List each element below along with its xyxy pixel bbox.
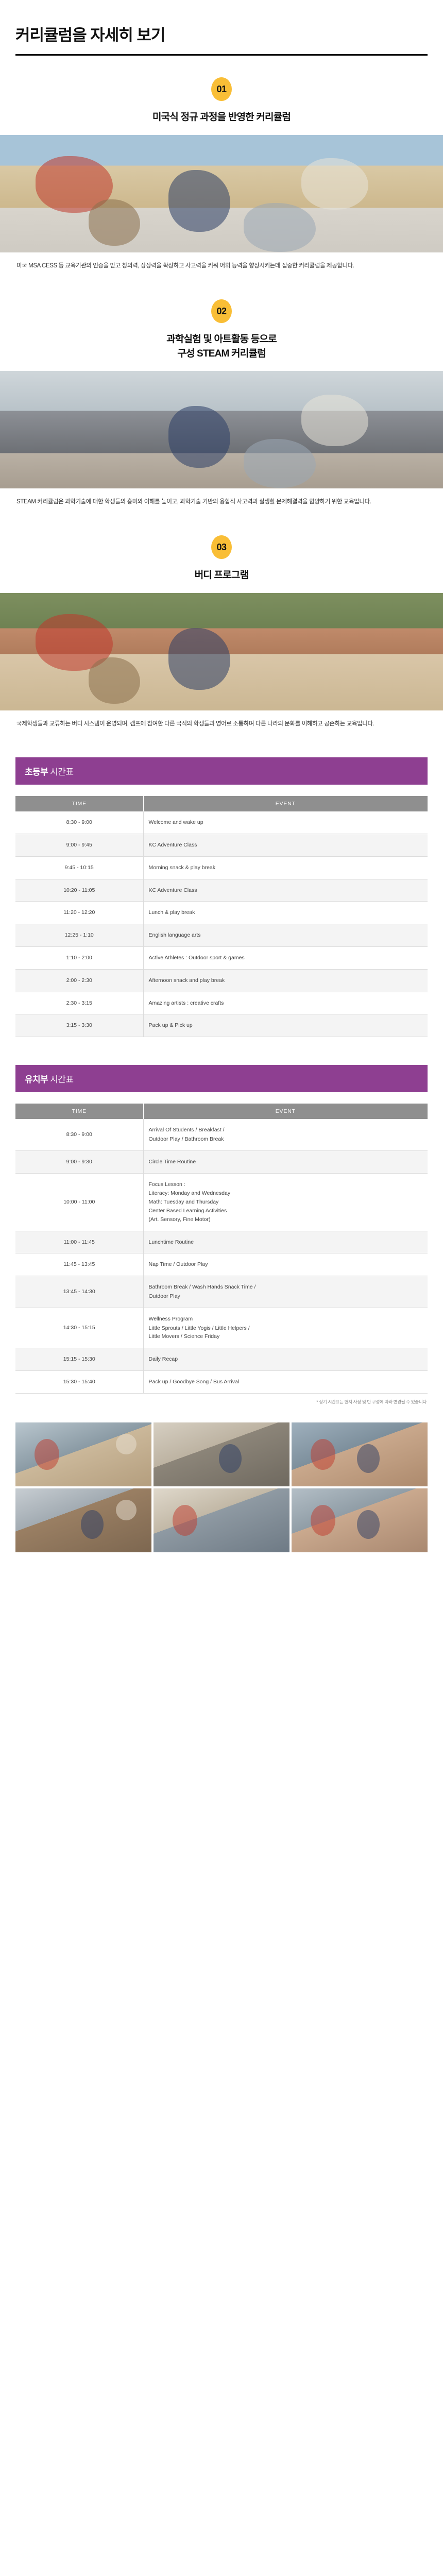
title-divider (15, 54, 428, 56)
science-lab-photo (0, 371, 443, 488)
event-line: English language arts (149, 931, 423, 940)
column-header-time: TIME (15, 796, 143, 811)
section-heading-01: 미국식 정규 과정을 반영한 커리큘럼 (15, 110, 428, 125)
cell-time: 8:30 - 9:00 (15, 1119, 143, 1150)
gallery-photo-6 (292, 1488, 428, 1552)
table-row: 8:30 - 9:00Welcome and wake up (15, 811, 428, 834)
section-heading-line: 미국식 정규 과정을 반영한 커리큘럼 (15, 110, 428, 125)
cell-event: Pack up & Pick up (143, 1014, 428, 1037)
table-row: 9:00 - 9:45KC Adventure Class (15, 834, 428, 856)
column-header-event: EVENT (143, 1104, 428, 1119)
cell-event: Afternoon snack and play break (143, 969, 428, 992)
cell-time: 12:25 - 1:10 (15, 924, 143, 947)
table-head: TIME EVENT (15, 796, 428, 811)
event-line: Little Movers / Science Friday (149, 1332, 423, 1341)
cell-time: 3:15 - 3:30 (15, 1014, 143, 1037)
cell-event: Circle Time Routine (143, 1150, 428, 1173)
cell-time: 14:30 - 15:15 (15, 1308, 143, 1348)
badge-wrap-02: 02 (15, 299, 428, 323)
table-row: 15:15 - 15:30Daily Recap (15, 1348, 428, 1371)
photo-shape (116, 1500, 137, 1520)
elementary-schedule-table: TIME EVENT 8:30 - 9:00Welcome and wake u… (15, 796, 428, 1037)
gallery-photo-5 (154, 1488, 289, 1552)
gallery-photo-3 (292, 1422, 428, 1486)
photo-gallery (0, 1405, 443, 1570)
section-heading-02: 과학실험 및 아트활동 등으로 구성 STEAM 커리큘럼 (15, 332, 428, 361)
table-header-row: TIME EVENT (15, 796, 428, 811)
event-line: Focus Lesson : (149, 1180, 423, 1189)
event-line: Outdoor Play (149, 1292, 423, 1301)
elementary-schedule: 초등부 시간표 TIME EVENT 8:30 - 9:00Welcome an… (0, 757, 443, 1065)
event-line: Center Based Learning Activities (149, 1207, 423, 1215)
cell-event: KC Adventure Class (143, 834, 428, 856)
banner-light-text: 시간표 (48, 767, 73, 777)
event-line: Little Sprouts / Little Yogis / Little H… (149, 1324, 423, 1333)
spacer (15, 730, 428, 757)
banner-strong-text: 초등부 (25, 767, 48, 777)
page-header: 커리큘럼을 자세히 보기 (0, 0, 443, 56)
section-heading-line: 과학실험 및 아트활동 등으로 (15, 332, 428, 347)
buddy-program-photo (0, 593, 443, 710)
elementary-schedule-banner: 초등부 시간표 (15, 757, 428, 785)
cell-time: 2:00 - 2:30 (15, 969, 143, 992)
badge-wrap-03: 03 (15, 535, 428, 559)
event-line: Pack up & Pick up (149, 1021, 423, 1030)
kindergarten-schedule-table: TIME EVENT 8:30 - 9:00Arrival Of Student… (15, 1104, 428, 1394)
column-header-time: TIME (15, 1104, 143, 1119)
photo-shape (173, 1505, 197, 1536)
photo-shape (81, 1510, 104, 1539)
cell-time: 2:30 - 3:15 (15, 992, 143, 1014)
event-line: (Art. Sensory, Fine Motor) (149, 1215, 423, 1224)
table-row: 1:10 - 2:00Active Athletes : Outdoor spo… (15, 946, 428, 969)
cell-event: Arrival Of Students / Breakfast /Outdoor… (143, 1119, 428, 1150)
table-row: 14:30 - 15:15Wellness ProgramLittle Spro… (15, 1308, 428, 1348)
cell-time: 8:30 - 9:00 (15, 811, 143, 834)
section-heading-line: 구성 STEAM 커리큘럼 (15, 347, 428, 361)
cell-event: Nap Time / Outdoor Play (143, 1253, 428, 1276)
spacer (15, 507, 428, 535)
cell-event: KC Adventure Class (143, 879, 428, 902)
table-row: 10:20 - 11:05KC Adventure Class (15, 879, 428, 902)
cell-event: Amazing artists : creative crafts (143, 992, 428, 1014)
cell-event: Welcome and wake up (143, 811, 428, 834)
badge-wrap-01: 01 (15, 77, 428, 101)
cell-event: Wellness ProgramLittle Sprouts / Little … (143, 1308, 428, 1348)
photo-shape (116, 1434, 137, 1454)
section-02-body: STEAM 커리큘럼은 과학기술에 대한 학생들의 흥미와 이해를 높이고, 과… (0, 488, 443, 535)
event-line: Literacy: Monday and Wednesday (149, 1189, 423, 1198)
section-number-badge-03: 03 (211, 535, 232, 559)
cell-event: Morning snack & play break (143, 856, 428, 879)
gallery-photo-1 (15, 1422, 151, 1486)
table-row: 10:00 - 11:00Focus Lesson :Literacy: Mon… (15, 1173, 428, 1231)
table-row: 9:00 - 9:30Circle Time Routine (15, 1150, 428, 1173)
event-line: Arrival Of Students / Breakfast / (149, 1126, 423, 1134)
event-line: Outdoor Play / Bathroom Break (149, 1135, 423, 1144)
section-number-badge-02: 02 (211, 299, 232, 323)
photo-shape (244, 203, 316, 252)
cell-time: 13:45 - 14:30 (15, 1276, 143, 1308)
cell-event: English language arts (143, 924, 428, 947)
event-line: Lunch & play break (149, 908, 423, 917)
event-line: Active Athletes : Outdoor sport & games (149, 954, 423, 962)
table-row: 13:45 - 14:30Bathroom Break / Wash Hands… (15, 1276, 428, 1308)
cell-time: 11:00 - 11:45 (15, 1231, 143, 1253)
photo-shape (89, 657, 140, 704)
spacer (15, 1037, 428, 1065)
table-row: 11:00 - 11:45Lunchtime Routine (15, 1231, 428, 1253)
event-line: Circle Time Routine (149, 1158, 423, 1166)
section-heading-03: 버디 프로그램 (15, 568, 428, 583)
event-line: Nap Time / Outdoor Play (149, 1260, 423, 1269)
photo-shape (311, 1505, 335, 1536)
table-row: 15:30 - 15:40Pack up / Goodbye Song / Bu… (15, 1370, 428, 1393)
cell-event: Focus Lesson :Literacy: Monday and Wedne… (143, 1173, 428, 1231)
section-description-03: 국제학생들과 교류하는 버디 시스템이 운영되며, 캠프에 참여한 다른 국적의… (15, 710, 428, 730)
photo-shape (168, 406, 230, 468)
cell-event: Bathroom Break / Wash Hands Snack Time /… (143, 1276, 428, 1308)
event-line: Math: Tuesday and Thursday (149, 1198, 423, 1207)
cell-time: 9:45 - 10:15 (15, 856, 143, 879)
cell-time: 1:10 - 2:00 (15, 946, 143, 969)
event-line: Wellness Program (149, 1315, 423, 1324)
event-line: Bathroom Break / Wash Hands Snack Time / (149, 1283, 423, 1292)
table-row: 11:45 - 13:45Nap Time / Outdoor Play (15, 1253, 428, 1276)
photo-shape (301, 395, 368, 446)
event-line: Pack up / Goodbye Song / Bus Arrival (149, 1378, 423, 1386)
kindergarten-schedule-banner: 유치부 시간표 (15, 1065, 428, 1092)
table-row: 2:00 - 2:30Afternoon snack and play brea… (15, 969, 428, 992)
photo-shape (301, 158, 368, 210)
cell-time: 10:20 - 11:05 (15, 879, 143, 902)
photo-shape (357, 1510, 380, 1539)
section-01-body: 미국 MSA CESS 등 교육기관의 인증을 받고 창의력, 상상력을 확장하… (0, 252, 443, 299)
banner-light-text: 시간표 (48, 1075, 73, 1084)
table-header-row: TIME EVENT (15, 1104, 428, 1119)
kindergarten-schedule: 유치부 시간표 TIME EVENT 8:30 - 9:00Arrival Of… (0, 1065, 443, 1405)
cell-time: 15:30 - 15:40 (15, 1370, 143, 1393)
table-row: 2:30 - 3:15Amazing artists : creative cr… (15, 992, 428, 1014)
event-line: Amazing artists : creative crafts (149, 999, 423, 1008)
photo-shape (168, 628, 230, 690)
kindergarten-table-body: 8:30 - 9:00Arrival Of Students / Breakfa… (15, 1119, 428, 1393)
table-head: TIME EVENT (15, 1104, 428, 1119)
column-header-event: EVENT (143, 796, 428, 811)
cell-time: 10:00 - 11:00 (15, 1173, 143, 1231)
photo-shape (89, 199, 140, 246)
spacer (15, 272, 428, 299)
photo-shape (35, 1439, 59, 1470)
photo-shape (357, 1444, 380, 1473)
curriculum-page: 커리큘럼을 자세히 보기 01 미국식 정규 과정을 반영한 커리큘럼 미국 M… (0, 0, 443, 1570)
event-line: KC Adventure Class (149, 886, 423, 895)
photo-shape (244, 439, 316, 488)
section-03: 03 버디 프로그램 (0, 535, 443, 583)
cell-event: Lunch & play break (143, 902, 428, 924)
event-line: KC Adventure Class (149, 841, 423, 850)
page-title: 커리큘럼을 자세히 보기 (15, 26, 428, 54)
section-description-02: STEAM 커리큘럼은 과학기술에 대한 학생들의 흥미와 이해를 높이고, 과… (15, 488, 428, 507)
event-line: Welcome and wake up (149, 818, 423, 827)
section-03-body: 국제학생들과 교류하는 버디 시스템이 운영되며, 캠프에 참여한 다른 국적의… (0, 710, 443, 757)
photo-shape (311, 1439, 335, 1470)
gallery-photo-4 (15, 1488, 151, 1552)
cell-event: Daily Recap (143, 1348, 428, 1371)
cell-time: 11:20 - 12:20 (15, 902, 143, 924)
table-row: 12:25 - 1:10English language arts (15, 924, 428, 947)
photo-shape (168, 170, 230, 232)
elementary-table-body: 8:30 - 9:00Welcome and wake up9:00 - 9:4… (15, 811, 428, 1037)
photo-shape (219, 1444, 242, 1473)
cell-event: Lunchtime Routine (143, 1231, 428, 1253)
cell-time: 15:15 - 15:30 (15, 1348, 143, 1371)
event-line: Afternoon snack and play break (149, 976, 423, 985)
table-row: 3:15 - 3:30Pack up & Pick up (15, 1014, 428, 1037)
section-01: 01 미국식 정규 과정을 반영한 커리큘럼 (0, 77, 443, 125)
cell-event: Pack up / Goodbye Song / Bus Arrival (143, 1370, 428, 1393)
table-row: 11:20 - 12:20Lunch & play break (15, 902, 428, 924)
section-description-01: 미국 MSA CESS 등 교육기관의 인증을 받고 창의력, 상상력을 확장하… (15, 252, 428, 272)
section-number-badge-01: 01 (211, 77, 232, 101)
section-02: 02 과학실험 및 아트활동 등으로 구성 STEAM 커리큘럼 (0, 299, 443, 361)
cell-event: Active Athletes : Outdoor sport & games (143, 946, 428, 969)
cell-time: 9:00 - 9:30 (15, 1150, 143, 1173)
cell-time: 9:00 - 9:45 (15, 834, 143, 856)
banner-strong-text: 유치부 (25, 1075, 48, 1084)
table-row: 8:30 - 9:00Arrival Of Students / Breakfa… (15, 1119, 428, 1150)
table-row: 9:45 - 10:15Morning snack & play break (15, 856, 428, 879)
cell-time: 11:45 - 13:45 (15, 1253, 143, 1276)
event-line: Morning snack & play break (149, 863, 423, 872)
schedule-footnote: * 상기 시간표는 현지 사정 및 반 구성에 따라 변경될 수 있습니다 (15, 1394, 428, 1405)
classroom-photo (0, 135, 443, 252)
section-heading-line: 버디 프로그램 (15, 568, 428, 583)
event-line: Daily Recap (149, 1355, 423, 1364)
gallery-photo-2 (154, 1422, 289, 1486)
event-line: Lunchtime Routine (149, 1238, 423, 1247)
